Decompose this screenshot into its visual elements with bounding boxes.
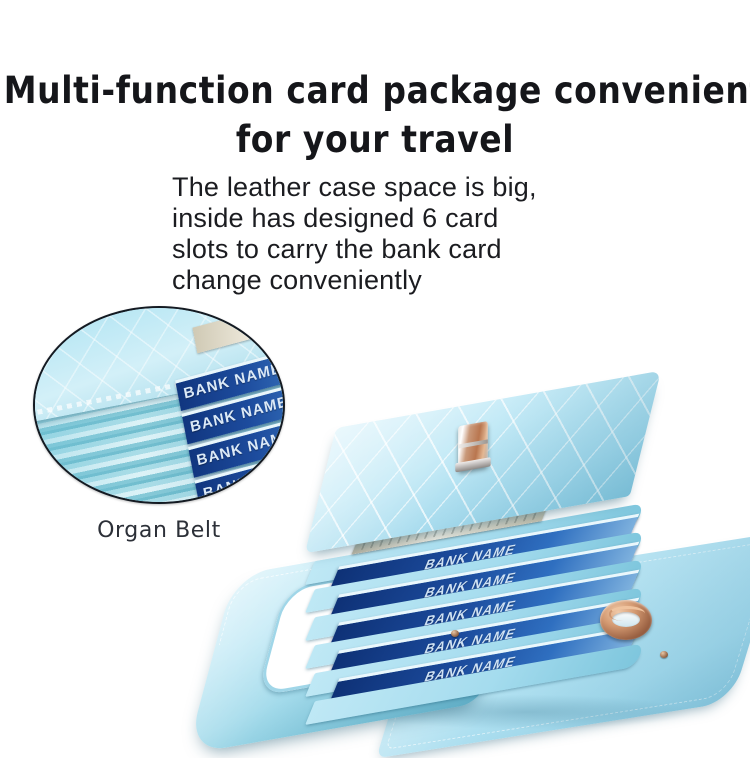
headline-line-2: for your travel: [4, 115, 747, 164]
turn-lock-clasp-icon: [458, 421, 488, 471]
rivet-icon: [451, 630, 459, 637]
description-line-2: inside has designed 6 card: [172, 203, 632, 234]
description-paragraph: The leather case space is big, inside ha…: [172, 172, 632, 296]
rose-gold-eyelet-icon: [600, 600, 652, 640]
description-line-4: change conveniently: [172, 265, 632, 296]
description-line-1: The leather case space is big,: [172, 172, 632, 203]
headline-line-1: Multi-function card package convenient: [4, 66, 747, 115]
rivet-icon: [660, 651, 668, 658]
page-title: Multi-function card package convenient f…: [4, 66, 747, 164]
product-photo: BANK NAME BANK NAME BANK NAME BANK NAME …: [190, 395, 750, 749]
product-marketing-page: Multi-function card package convenient f…: [0, 0, 750, 749]
description-line-3: slots to carry the bank card: [172, 234, 632, 265]
